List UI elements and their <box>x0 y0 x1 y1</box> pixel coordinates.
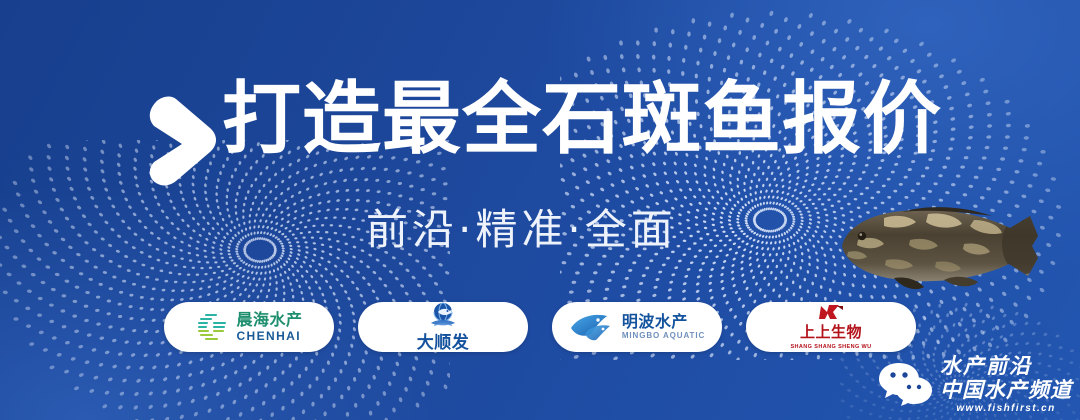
sponsor-name-cn: 上上生物 <box>800 321 862 342</box>
dot-swirl-bottom-left-decoration <box>0 140 450 420</box>
grouper-fish-image <box>824 192 1062 296</box>
sponsor-name-en: MINGBO AQUATIC <box>622 332 705 340</box>
page-subtitle: 前沿·精准·全面 <box>366 205 677 255</box>
sponsor-name-cn: 明波水产 <box>622 314 705 330</box>
sponsor-pill-dashunfa[interactable]: 大顺发 <box>358 302 528 352</box>
sponsor-name-en: SHANG SHANG SHENG WU <box>790 344 871 350</box>
wechat-icon <box>878 360 932 410</box>
chevron-right-icon <box>142 92 218 188</box>
sponsor-logo-row: 晨海水产 CHENHAI 大顺发 <box>0 302 1080 352</box>
channel-watermark: 水产前沿 中国水产频道 www.fishfirst.cn <box>878 356 1072 414</box>
promo-banner: 打造最全石斑鱼报价 前沿·精准·全面 <box>0 0 1080 420</box>
sponsor-pill-chenhai[interactable]: 晨海水产 CHENHAI <box>164 302 334 352</box>
chenhai-dashed-circle-icon <box>195 310 229 344</box>
sponsor-name-cn: 晨海水产 <box>236 312 302 328</box>
sponsor-pill-mingbo[interactable]: 明波水产 MINGBO AQUATIC <box>552 302 722 352</box>
page-title: 打造最全石斑鱼报价 <box>222 78 942 162</box>
sponsor-pill-shangshang[interactable]: 上上生物 SHANG SHANG SHENG WU <box>746 302 916 352</box>
shangshang-red-mark-icon <box>817 304 845 321</box>
sponsor-name-cn: 大顺发 <box>417 328 470 353</box>
watermark-line-2: 中国水产频道 <box>940 380 1072 401</box>
watermark-url: www.fishfirst.cn <box>940 404 1072 414</box>
watermark-line-1: 水产前沿 <box>940 356 1072 377</box>
dashunfa-globe-fish-icon <box>428 302 458 328</box>
sponsor-name-en: CHENHAI <box>236 330 302 342</box>
mingbo-fish-icon <box>569 312 615 342</box>
